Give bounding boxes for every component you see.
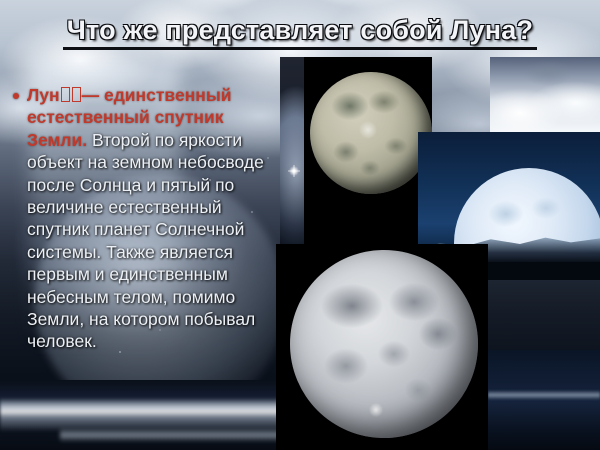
slide-body-bullet: Лун— единственный естественный спутник З… xyxy=(10,84,278,353)
moon-disc-gray xyxy=(290,250,478,438)
moon-full-gray-photo xyxy=(276,244,488,450)
missing-glyph-box-1 xyxy=(61,87,70,102)
slide-title-area: Что же представляет собой Луна? xyxy=(0,16,600,50)
presentation-slide: Что же представляет собой Луна? Лун— еди… xyxy=(0,0,600,450)
slide-body-text: Лун— единственный естественный спутник З… xyxy=(27,84,278,353)
slide-title: Что же представляет собой Луна? xyxy=(63,16,537,50)
moon-full-color-photo xyxy=(304,57,432,247)
body-paragraph: Второй по яркости объект на земном небос… xyxy=(27,130,264,352)
night-sea-photo xyxy=(488,350,600,450)
lead-text-prefix: Лун xyxy=(27,85,60,105)
starfield-strip-photo xyxy=(280,57,306,247)
cloud-swatch-photo xyxy=(490,57,600,132)
bullet-dot-icon xyxy=(13,93,19,99)
moon-disc-color xyxy=(310,72,432,194)
missing-glyph-box-2 xyxy=(72,87,81,102)
